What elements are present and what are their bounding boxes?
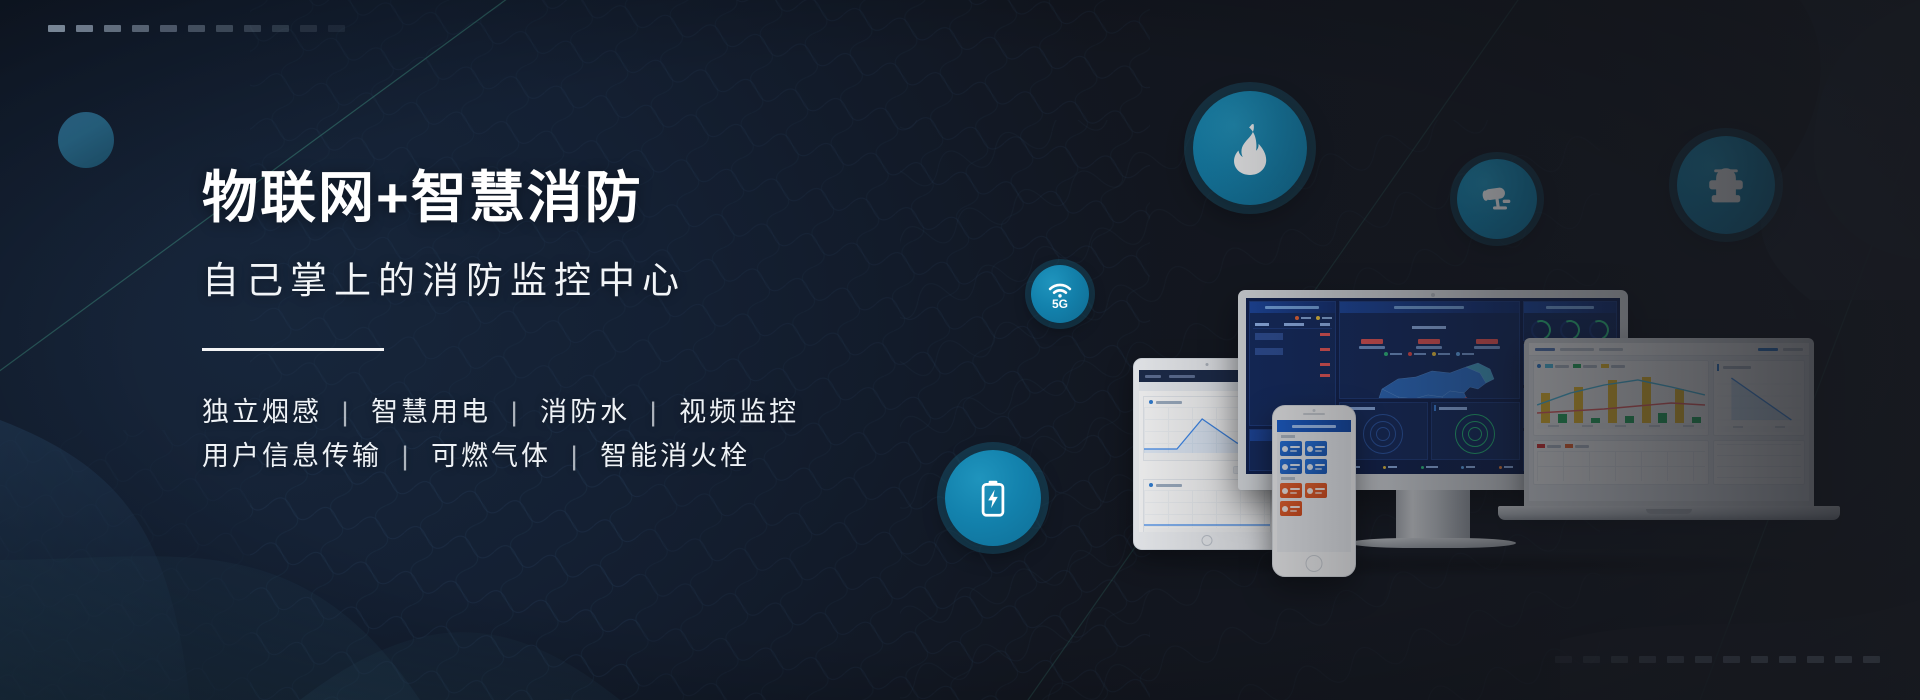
laptop-table-grid — [1537, 451, 1705, 481]
bullet-icon — [1149, 400, 1153, 404]
laptop-trackpad-notch — [1646, 509, 1692, 514]
phone-section-normal — [1277, 432, 1351, 474]
decor-dashes-bottom-right — [1555, 656, 1880, 663]
legend-item — [1432, 352, 1450, 356]
tile-icon — [1282, 464, 1288, 470]
laptop-device — [1524, 338, 1814, 506]
feature-item-electricity: 智慧用电 — [371, 397, 491, 427]
phone-tile[interactable] — [1305, 459, 1327, 474]
kpi-item — [1474, 339, 1500, 349]
device-cluster — [1120, 290, 1920, 590]
tablet-line-chart-2 — [1144, 490, 1270, 528]
legend-item — [1384, 352, 1402, 356]
laptop-card-header — [1717, 364, 1801, 371]
tablet-axis-2 — [1144, 528, 1270, 532]
phone-section-label — [1281, 477, 1295, 480]
battery-bolt-icon — [971, 476, 1015, 520]
panel-body — [1524, 313, 1616, 341]
laptop-card-header — [1537, 364, 1705, 368]
legend-item — [1545, 364, 1569, 368]
tile-icon — [1282, 488, 1288, 494]
laptop-axis-card — [1713, 440, 1805, 485]
laptop-axis-grid — [1717, 444, 1801, 480]
map-kpi-row — [1343, 336, 1516, 349]
feature-separator: | — [562, 441, 590, 471]
china-map — [1343, 359, 1516, 399]
badge-fire-hydrant — [1677, 136, 1775, 234]
bullet-icon — [1537, 364, 1541, 368]
feature-line-2: 用户信息传输 | 可燃气体 | 智能消火栓 — [202, 435, 962, 479]
laptop-body — [1529, 356, 1809, 440]
feature-item-gas: 可燃气体 — [431, 441, 551, 471]
tile-icon — [1307, 446, 1313, 452]
feature-line-1: 独立烟感 | 智慧用电 | 消防水 | 视频监控 — [202, 391, 962, 435]
legend-item — [1408, 352, 1426, 356]
feature-item-smoke: 独立烟感 — [202, 397, 322, 427]
phone-tile-alarm[interactable] — [1280, 483, 1302, 498]
mobile-phone-device — [1272, 405, 1356, 577]
feature-separator: | — [393, 441, 421, 471]
phone-tile-alarm[interactable] — [1280, 501, 1302, 516]
badge-5g: 5G — [1031, 265, 1089, 323]
5g-signal-icon: 5G — [1044, 278, 1076, 310]
laptop-bar-line-chart — [1537, 371, 1705, 423]
panel-radar-right — [1431, 402, 1520, 460]
page-subtitle: 自己掌上的消防监控中心 — [202, 250, 962, 304]
feature-item-video: 视频监控 — [679, 397, 799, 427]
feature-separator: | — [641, 397, 669, 427]
legend-item — [1573, 364, 1597, 368]
monitor-stand — [1396, 490, 1470, 542]
banner-stage: 物联网+智慧消防 自己掌上的消防监控中心 独立烟感 | 智慧用电 | 消防水 |… — [0, 0, 1920, 700]
panel-gauges — [1523, 301, 1617, 341]
map-legend — [1343, 349, 1516, 359]
laptop-base — [1498, 506, 1840, 520]
phone-tile[interactable] — [1280, 459, 1302, 474]
laptop-bottom-row — [1529, 440, 1809, 485]
phone-tile[interactable] — [1305, 441, 1327, 456]
phone-tile-grid-orange — [1280, 483, 1348, 516]
radar-chart-green — [1455, 414, 1495, 454]
monitor-base — [1350, 538, 1516, 548]
laptop-table-legend — [1537, 444, 1705, 448]
radar-chart — [1363, 414, 1403, 454]
flame-icon — [1223, 121, 1277, 175]
laptop-mixed-chart-card — [1533, 360, 1709, 436]
laptop-triangle-chart-card — [1713, 360, 1805, 436]
phone-speaker — [1303, 413, 1325, 415]
banner-copy: 物联网+智慧消防 自己掌上的消防监控中心 独立烟感 | 智慧用电 | 消防水 |… — [202, 168, 962, 479]
laptop-descending-area-chart — [1717, 374, 1801, 426]
tablet-camera-icon — [1206, 363, 1209, 366]
laptop-topbar — [1529, 343, 1809, 356]
tile-icon — [1307, 488, 1313, 494]
page-title: 物联网+智慧消防 — [202, 168, 962, 228]
badge-cctv-camera — [1457, 159, 1537, 239]
feature-list: 独立烟感 | 智慧用电 | 消防水 | 视频监控 用户信息传输 | 可燃气体 |… — [202, 391, 962, 478]
fire-hydrant-icon — [1703, 162, 1749, 208]
panel-body — [1340, 313, 1519, 399]
panel-header — [1340, 302, 1519, 313]
tile-icon — [1307, 464, 1313, 470]
badge-battery-power — [945, 450, 1041, 546]
tile-icon — [1282, 506, 1288, 512]
phone-section-alarm — [1277, 474, 1351, 516]
phone-screen — [1277, 420, 1351, 552]
dashboard-center-column — [1339, 301, 1520, 471]
phone-app-header — [1277, 420, 1351, 432]
phone-tile-grid-blue — [1280, 441, 1348, 474]
tablet-card-title — [1156, 401, 1182, 404]
panel-header — [1250, 302, 1335, 313]
laptop-screen — [1529, 343, 1809, 501]
feature-item-water: 消防水 — [540, 397, 630, 427]
laptop-chart-legend — [1545, 364, 1625, 368]
phone-tile-alarm[interactable] — [1305, 483, 1327, 498]
panel-header — [1524, 302, 1616, 313]
decor-glow-circle — [58, 112, 114, 168]
kpi-item — [1359, 339, 1385, 349]
bullet-icon — [1149, 483, 1153, 487]
decor-dashes-top-left — [48, 25, 345, 32]
cctv-camera-icon — [1477, 179, 1517, 219]
tablet-card-title — [1156, 484, 1182, 487]
legend-item — [1537, 444, 1561, 448]
legend-item — [1565, 444, 1589, 448]
panel-body — [1432, 403, 1519, 459]
badge-flame — [1193, 91, 1307, 205]
feature-separator: | — [333, 397, 361, 427]
svg-text:5G: 5G — [1052, 297, 1068, 310]
phone-camera-icon — [1313, 409, 1316, 412]
feature-item-user-info: 用户信息传输 — [202, 441, 382, 471]
legend-item — [1601, 364, 1625, 368]
phone-tile[interactable] — [1280, 441, 1302, 456]
phone-home-button[interactable] — [1306, 555, 1323, 572]
panel-china-map — [1339, 301, 1520, 399]
legend-item — [1456, 352, 1474, 356]
feature-separator: | — [502, 397, 530, 427]
monitor-camera-icon — [1431, 293, 1435, 297]
tablet-home-button — [1202, 535, 1213, 546]
feature-item-hydrant: 智能消火栓 — [600, 441, 750, 471]
title-divider — [202, 348, 384, 351]
phone-section-label — [1281, 435, 1295, 438]
laptop-table-card — [1533, 440, 1709, 485]
kpi-item — [1416, 339, 1442, 349]
tile-icon — [1282, 446, 1288, 452]
